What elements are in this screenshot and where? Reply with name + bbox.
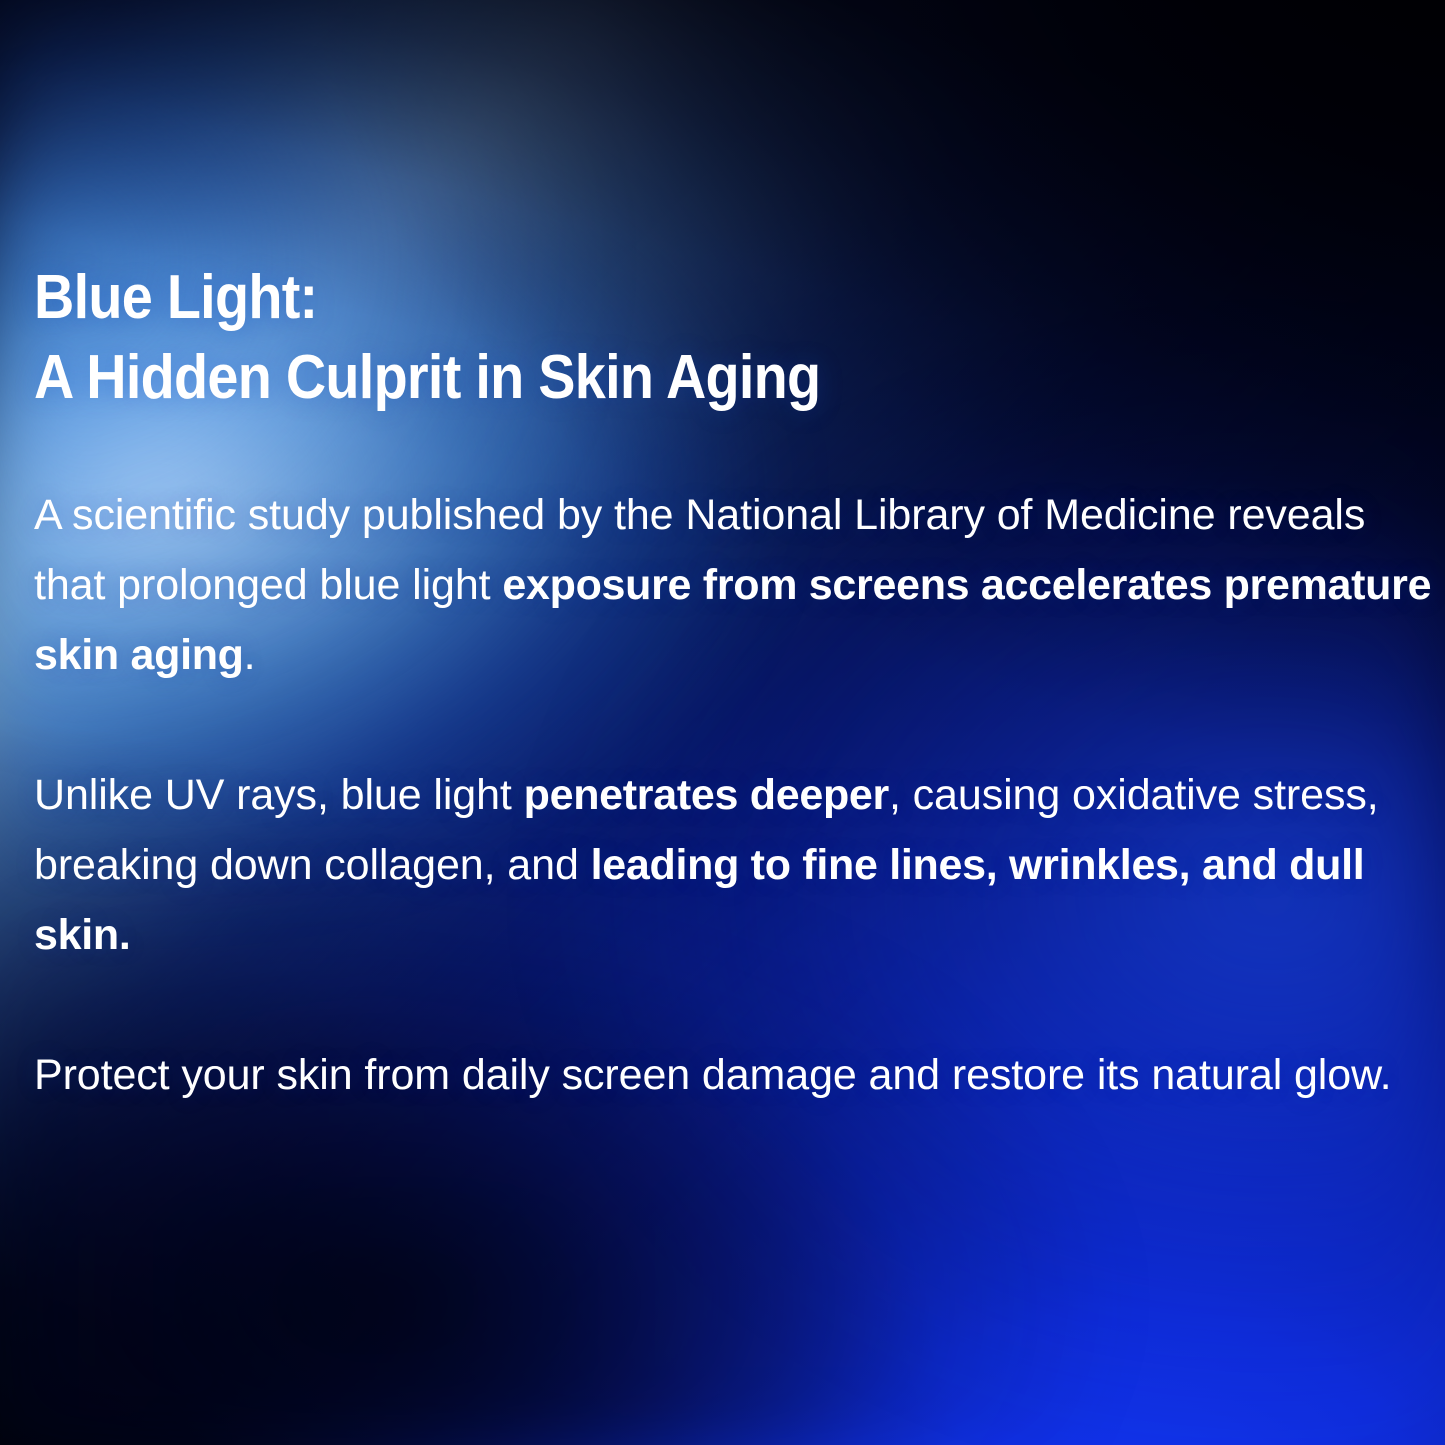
body-copy: A scientific study published by the Nati… <box>34 480 1438 1110</box>
poster-content: Blue Light: A Hidden Culprit in Skin Agi… <box>34 0 1434 1445</box>
body-text: . <box>244 631 256 679</box>
body-text: Protect your skin from daily screen dama… <box>34 1051 1392 1099</box>
blue-light-poster: Blue Light: A Hidden Culprit in Skin Agi… <box>0 0 1445 1445</box>
body-text: Unlike UV rays, blue light <box>34 771 524 819</box>
paragraph-study: A scientific study published by the Nati… <box>34 480 1438 690</box>
paragraph-mechanism: Unlike UV rays, blue light penetrates de… <box>34 760 1438 970</box>
page-title: Blue Light: A Hidden Culprit in Skin Agi… <box>34 258 1240 418</box>
paragraph-callout: Protect your skin from daily screen dama… <box>34 1040 1438 1110</box>
emphasis-text: penetrates deeper <box>524 771 889 819</box>
